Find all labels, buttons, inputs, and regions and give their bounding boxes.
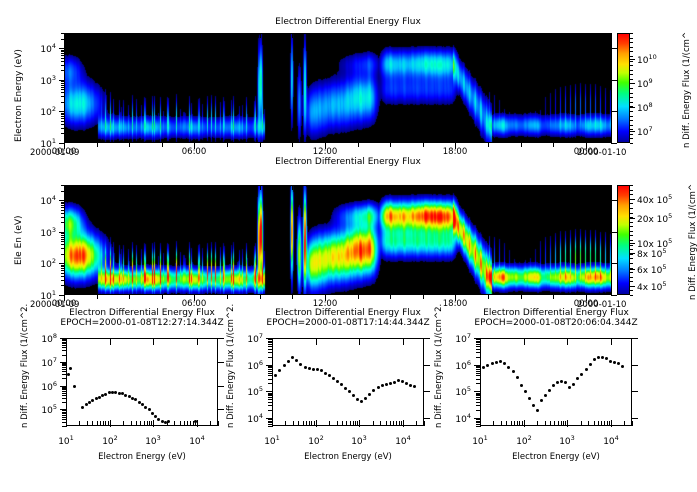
axis-tick	[268, 357, 273, 358]
axis-tick	[506, 421, 507, 426]
axis-tick	[162, 142, 163, 147]
axis-tick	[217, 409, 224, 410]
axis-tick	[190, 421, 191, 426]
axis-tick	[61, 58, 65, 59]
axis-tick	[61, 233, 65, 234]
spectrum-y-tick-label: 106	[455, 359, 471, 372]
axis-tick	[61, 65, 65, 66]
axis-tick	[184, 421, 185, 426]
axis-tick	[630, 277, 633, 278]
axis-tick	[358, 142, 359, 147]
axis-tick	[630, 134, 633, 135]
axis-tick	[511, 421, 512, 426]
data-point	[304, 366, 307, 369]
axis-tick	[268, 367, 273, 368]
data-point	[613, 361, 616, 364]
axis-tick	[493, 421, 494, 426]
axis-tick	[329, 421, 330, 426]
axis-tick	[97, 142, 98, 147]
axis-tick	[61, 70, 65, 71]
axis-tick	[149, 421, 150, 426]
axis-tick	[630, 263, 633, 264]
data-point	[278, 369, 281, 372]
axis-tick	[62, 398, 67, 399]
axis-tick	[62, 367, 67, 368]
axis-tick	[630, 240, 633, 241]
data-point	[491, 362, 494, 365]
data-point	[617, 362, 620, 365]
axis-tick	[476, 346, 481, 347]
axis-tick	[268, 395, 273, 396]
axis-tick	[147, 421, 148, 426]
axis-tick	[79, 421, 80, 426]
axis-tick	[403, 338, 404, 345]
axis-tick	[630, 281, 633, 282]
axis-tick	[61, 276, 65, 277]
axis-tick	[62, 371, 67, 372]
spectrum-x-tick-label: 101	[264, 434, 280, 447]
axis-tick	[64, 185, 65, 190]
axis-tick	[92, 421, 93, 426]
data-point	[401, 380, 404, 383]
spectrum-x-tick-label: 102	[102, 434, 118, 447]
colorbar-tick-label: 4x 105	[637, 280, 667, 293]
axis-tick	[61, 96, 65, 97]
axis-tick	[521, 294, 522, 299]
axis-tick	[62, 412, 67, 413]
axis-tick	[62, 391, 67, 392]
axis-tick	[140, 421, 141, 426]
axis-tick	[611, 48, 617, 49]
axis-tick	[501, 421, 502, 426]
data-point	[528, 397, 531, 400]
axis-tick	[632, 421, 633, 426]
axis-tick	[129, 142, 130, 147]
spectrum-y-tick-label: 106	[41, 380, 57, 393]
axis-tick	[423, 391, 430, 392]
axis-tick	[61, 116, 65, 117]
axis-tick	[553, 185, 554, 190]
axis-tick	[396, 421, 397, 426]
x-tick-label: 18:00	[443, 147, 468, 157]
axis-tick	[353, 421, 354, 426]
axis-tick	[630, 51, 633, 52]
axis-tick	[403, 420, 404, 427]
axis-tick	[218, 421, 219, 426]
axis-tick	[260, 294, 261, 299]
axis-tick	[325, 185, 326, 190]
axis-tick	[630, 97, 633, 98]
axis-tick	[97, 33, 98, 38]
axis-tick	[61, 244, 65, 245]
axis-tick	[521, 33, 522, 38]
axis-tick	[476, 402, 481, 403]
axis-tick	[62, 387, 67, 388]
spectrum-plot-area[interactable]	[66, 338, 218, 426]
axis-tick	[581, 421, 582, 426]
axis-tick	[61, 222, 65, 223]
x-tick-label: 12:00	[313, 147, 338, 157]
data-point	[512, 370, 515, 373]
axis-tick	[390, 142, 391, 147]
middle-panel-title: Electron Differential Energy Flux	[233, 157, 463, 167]
axis-tick	[268, 379, 273, 380]
axis-tick	[390, 294, 391, 299]
axis-tick	[217, 386, 224, 387]
axis-tick	[358, 294, 359, 299]
spectrum-x-tick-label: 103	[559, 434, 575, 447]
axis-tick	[423, 418, 430, 419]
axis-tick	[630, 143, 633, 144]
y-tick-label: 102	[40, 257, 56, 270]
axis-tick	[611, 80, 617, 81]
spectrum-x-tick-label: 103	[351, 434, 367, 447]
spectrum-y-tick-label: 108	[41, 332, 57, 345]
axis-tick	[474, 391, 481, 392]
axis-tick	[630, 131, 635, 132]
axis-tick	[630, 222, 633, 223]
axis-tick	[586, 185, 587, 190]
axis-tick	[217, 338, 224, 339]
spectrum-x-tick-label: 104	[395, 434, 411, 447]
axis-tick	[62, 378, 67, 379]
axis-tick	[476, 366, 481, 367]
axis-tick	[630, 106, 633, 107]
axis-tick	[630, 199, 633, 200]
axis-tick	[62, 363, 67, 364]
axis-tick	[630, 290, 633, 291]
axis-tick	[424, 421, 425, 426]
spectrum-x-tick-label: 101	[58, 434, 74, 447]
axis-tick	[129, 185, 130, 190]
axis-tick	[476, 383, 481, 384]
data-point	[320, 369, 323, 372]
axis-tick	[476, 394, 481, 395]
data-point	[85, 403, 88, 406]
axis-tick	[630, 47, 633, 48]
data-point	[194, 420, 197, 423]
axis-tick	[268, 399, 273, 400]
axis-tick	[62, 417, 67, 418]
axis-tick	[476, 349, 481, 350]
middle-panel-ylabel: Ele En (eV)	[14, 215, 24, 265]
axis-tick	[554, 421, 555, 426]
axis-tick	[97, 185, 98, 190]
axis-tick	[350, 421, 351, 426]
axis-tick	[62, 388, 67, 389]
axis-tick	[553, 33, 554, 38]
axis-tick	[268, 375, 273, 376]
axis-tick	[59, 111, 65, 112]
top-panel-title: Electron Differential Energy Flux	[233, 17, 463, 27]
axis-tick	[131, 421, 132, 426]
axis-tick	[97, 294, 98, 299]
y-tick-label: 103	[40, 74, 56, 87]
axis-tick	[601, 421, 602, 426]
axis-tick	[59, 200, 65, 201]
axis-tick	[61, 51, 65, 52]
axis-tick	[61, 213, 65, 214]
spectrum-y-tick-label: 107	[41, 356, 57, 369]
axis-tick	[162, 33, 163, 38]
axis-tick	[630, 194, 633, 195]
axis-tick	[537, 421, 538, 426]
axis-tick	[61, 266, 65, 267]
axis-tick	[359, 420, 360, 427]
axis-tick	[61, 285, 65, 286]
axis-tick	[611, 111, 617, 112]
data-point	[548, 389, 551, 392]
axis-tick	[227, 294, 228, 299]
axis-tick	[103, 421, 104, 426]
axis-tick	[630, 61, 633, 62]
axis-tick	[303, 421, 304, 426]
axis-tick	[476, 375, 481, 376]
axis-tick	[136, 421, 137, 426]
axis-tick	[630, 231, 633, 232]
axis-tick	[630, 93, 633, 94]
data-point	[88, 401, 91, 404]
axis-tick	[550, 421, 551, 426]
colorbar-tick-label: 40x 105	[637, 193, 672, 206]
axis-tick	[197, 338, 198, 345]
axis-tick	[611, 295, 617, 296]
axis-tick	[227, 33, 228, 38]
axis-tick	[268, 346, 273, 347]
axis-tick	[153, 338, 154, 345]
axis-tick	[476, 352, 481, 353]
axis-tick	[61, 265, 65, 266]
axis-tick	[97, 421, 98, 426]
axis-tick	[268, 352, 273, 353]
data-point	[151, 412, 154, 415]
axis-tick	[630, 235, 633, 236]
axis-tick	[630, 129, 633, 130]
axis-tick	[180, 421, 181, 426]
spectrum-subtitle: EPOCH=2000-01-08T20:06:04.344Z	[420, 318, 692, 328]
axis-tick	[455, 33, 456, 38]
axis-tick	[268, 349, 273, 350]
axis-tick	[630, 190, 633, 191]
axis-tick	[108, 421, 109, 426]
axis-tick	[630, 268, 633, 269]
axis-tick	[476, 397, 481, 398]
spectrum-y-tick-label: 105	[247, 385, 263, 398]
spectrum-x-tick-label: 102	[516, 434, 532, 447]
axis-tick	[346, 421, 347, 426]
axis-tick	[66, 338, 67, 345]
axis-tick	[358, 185, 359, 190]
axis-tick	[61, 121, 65, 122]
axis-tick	[630, 70, 633, 71]
axis-tick	[630, 226, 633, 227]
axis-tick	[61, 237, 65, 238]
spectrum-y-tick-label: 107	[455, 332, 471, 345]
axis-tick	[197, 420, 198, 427]
axis-tick	[61, 81, 65, 82]
axis-tick	[61, 113, 65, 114]
axis-tick	[567, 420, 568, 427]
axis-tick	[630, 74, 633, 75]
axis-tick	[153, 420, 154, 427]
axis-tick	[61, 270, 65, 271]
axis-tick	[61, 50, 65, 51]
axis-tick	[144, 421, 145, 426]
axis-tick	[260, 185, 261, 190]
axis-tick	[524, 420, 525, 427]
axis-tick	[476, 371, 481, 372]
axis-tick	[62, 395, 67, 396]
axis-tick	[62, 369, 67, 370]
spectrum-x-tick-label: 103	[145, 434, 161, 447]
axis-tick	[61, 89, 65, 90]
data-point	[552, 384, 555, 387]
top-xaxis-date-left: 2000-01-09	[30, 148, 79, 158]
axis-tick	[61, 55, 65, 56]
axis-tick	[162, 294, 163, 299]
axis-tick	[61, 118, 65, 119]
axis-tick	[416, 421, 417, 426]
axis-tick	[61, 254, 65, 255]
axis-tick	[611, 232, 617, 233]
axis-tick	[268, 383, 273, 384]
axis-tick	[561, 421, 562, 426]
data-point	[312, 368, 315, 371]
top-spectrogram-plot[interactable]	[64, 33, 612, 143]
axis-tick	[61, 248, 65, 249]
data-point	[503, 362, 506, 365]
axis-tick	[61, 203, 65, 204]
axis-tick	[630, 111, 633, 112]
spectrum-xlabel: Electron Energy (eV)	[480, 452, 632, 462]
axis-tick	[522, 421, 523, 426]
axis-tick	[630, 254, 633, 255]
top-colorbar	[617, 33, 630, 143]
axis-tick	[630, 83, 633, 84]
spectrum-y-tick-label: 106	[247, 359, 263, 372]
axis-tick	[285, 421, 286, 426]
axis-tick	[123, 421, 124, 426]
axis-tick	[423, 365, 430, 366]
axis-tick	[61, 128, 65, 129]
axis-tick	[260, 142, 261, 147]
axis-tick	[62, 415, 67, 416]
axis-tick	[586, 33, 587, 38]
axis-tick	[61, 202, 65, 203]
axis-tick	[390, 421, 391, 426]
spectrum-y-tick-label: 105	[455, 385, 471, 398]
axis-tick	[66, 420, 67, 427]
axis-tick	[61, 210, 65, 211]
y-tick-label: 103	[40, 226, 56, 239]
axis-tick	[476, 367, 481, 368]
axis-tick	[61, 87, 65, 88]
spectrum-ylabel: n Diff. Energy Flux (1/(cm^2.	[20, 304, 30, 428]
axis-tick	[62, 347, 67, 348]
axis-tick	[61, 39, 65, 40]
data-point	[405, 382, 408, 385]
axis-tick	[110, 338, 111, 345]
axis-tick	[553, 294, 554, 299]
axis-tick	[488, 294, 489, 299]
axis-tick	[630, 56, 633, 57]
data-point	[397, 379, 400, 382]
axis-tick	[62, 365, 67, 366]
top-colorbar-label: n Diff. Energy Flux (1/(cm^	[682, 32, 692, 148]
colorbar-tick-label: 109	[637, 77, 653, 90]
axis-tick	[630, 185, 633, 186]
spectrum-x-tick-label: 104	[189, 434, 205, 447]
axis-tick	[386, 421, 387, 426]
axis-tick	[630, 249, 633, 250]
axis-tick	[61, 85, 65, 86]
axis-tick	[476, 373, 481, 374]
middle-spectrogram-plot[interactable]	[64, 185, 612, 295]
axis-tick	[61, 235, 65, 236]
data-point	[144, 406, 147, 409]
axis-tick	[517, 421, 518, 426]
axis-tick	[268, 393, 273, 394]
data-point	[409, 384, 412, 387]
axis-tick	[558, 421, 559, 426]
axis-tick	[630, 243, 635, 244]
axis-tick	[630, 203, 633, 204]
axis-tick	[62, 345, 67, 346]
axis-tick	[598, 421, 599, 426]
axis-tick	[588, 421, 589, 426]
axis-tick	[129, 294, 130, 299]
axis-tick	[59, 48, 65, 49]
axis-tick	[423, 142, 424, 147]
data-point	[381, 384, 384, 387]
spectrum-x-tick-label: 102	[308, 434, 324, 447]
axis-tick	[129, 33, 130, 38]
spectrum-x-tick-label: 104	[603, 434, 619, 447]
axis-tick	[357, 421, 358, 426]
axis-tick	[519, 421, 520, 426]
spectrum-y-tick-label: 105	[41, 403, 57, 416]
axis-tick	[260, 33, 261, 38]
data-point	[532, 404, 535, 407]
axis-tick	[62, 389, 67, 390]
axis-tick	[521, 185, 522, 190]
axis-tick	[162, 185, 163, 190]
axis-tick	[423, 185, 424, 190]
axis-tick	[62, 350, 67, 351]
axis-tick	[227, 185, 228, 190]
axis-tick	[61, 133, 65, 134]
axis-tick	[630, 79, 633, 80]
axis-tick	[553, 142, 554, 147]
axis-tick	[61, 239, 65, 240]
axis-tick	[631, 338, 638, 339]
axis-tick	[630, 213, 633, 214]
data-point	[585, 368, 588, 371]
axis-tick	[488, 33, 489, 38]
axis-tick	[62, 402, 67, 403]
axis-tick	[624, 421, 625, 426]
axis-tick	[630, 208, 633, 209]
axis-tick	[630, 258, 633, 259]
axis-tick	[630, 107, 635, 108]
axis-tick	[611, 143, 617, 144]
axis-tick	[61, 268, 65, 269]
data-point	[520, 384, 523, 387]
axis-tick	[609, 421, 610, 426]
axis-tick	[423, 294, 424, 299]
axis-tick	[630, 65, 633, 66]
axis-tick	[316, 420, 317, 427]
